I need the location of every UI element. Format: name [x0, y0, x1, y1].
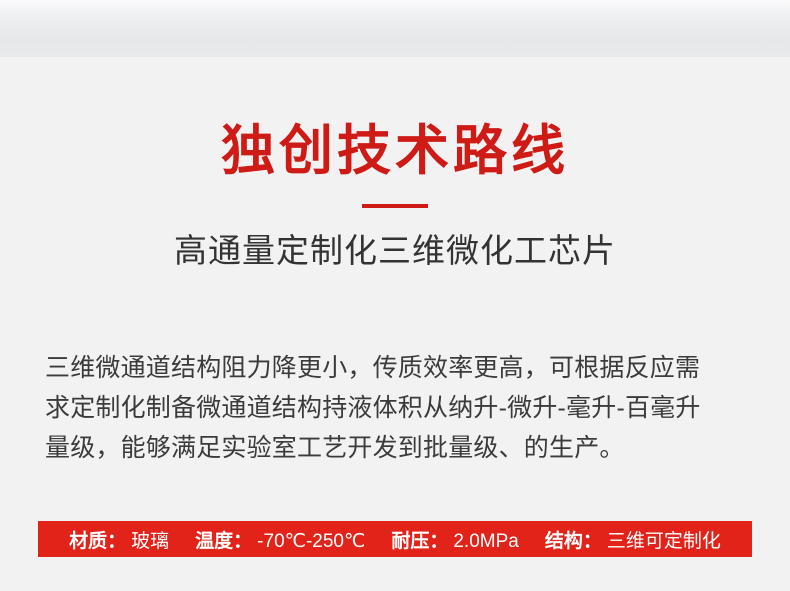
- spec-value-temperature: -70℃-250℃: [257, 530, 365, 553]
- spec-value-material: 玻璃: [131, 526, 169, 553]
- spec-value-pressure: 2.0MPa: [453, 531, 518, 553]
- spec-value-structure: 三维可定制化: [607, 526, 721, 553]
- spec-item-material: 材质： 玻璃: [69, 526, 169, 553]
- body-line-2: 求定制化制备微通道结构持液体积从纳升-微升-毫升-百毫升: [45, 388, 751, 428]
- title-divider: [362, 204, 428, 208]
- spec-label-structure: 结构：: [545, 526, 602, 553]
- spec-item-pressure: 耐压： 2.0MPa: [391, 526, 519, 553]
- spec-label-pressure: 耐压：: [391, 526, 448, 553]
- spec-banner: 材质： 玻璃 温度： -70℃-250℃ 耐压： 2.0MPa 结构： 三维可定…: [38, 521, 752, 557]
- product-feature-page: 独创技术路线 高通量定制化三维微化工芯片 三维微通道结构阻力降更小，传质效率更高…: [0, 0, 790, 591]
- spec-label-temperature: 温度：: [195, 526, 252, 553]
- spec-item-temperature: 温度： -70℃-250℃: [195, 526, 365, 553]
- heading-block: 独创技术路线 高通量定制化三维微化工芯片: [0, 120, 790, 272]
- title-divider-wrap: [0, 204, 790, 208]
- spec-item-structure: 结构： 三维可定制化: [545, 526, 721, 553]
- page-subtitle: 高通量定制化三维微化工芯片: [0, 230, 790, 272]
- page-title: 独创技术路线: [0, 120, 790, 182]
- body-line-3: 量级，能够满足实验室工艺开发到批量级、的生产。: [45, 428, 751, 468]
- body-line-1: 三维微通道结构阻力降更小，传质效率更高，可根据反应需: [45, 348, 751, 388]
- top-gradient-band: [0, 0, 790, 57]
- body-paragraph: 三维微通道结构阻力降更小，传质效率更高，可根据反应需 求定制化制备微通道结构持液…: [45, 348, 751, 468]
- spec-label-material: 材质：: [69, 526, 126, 553]
